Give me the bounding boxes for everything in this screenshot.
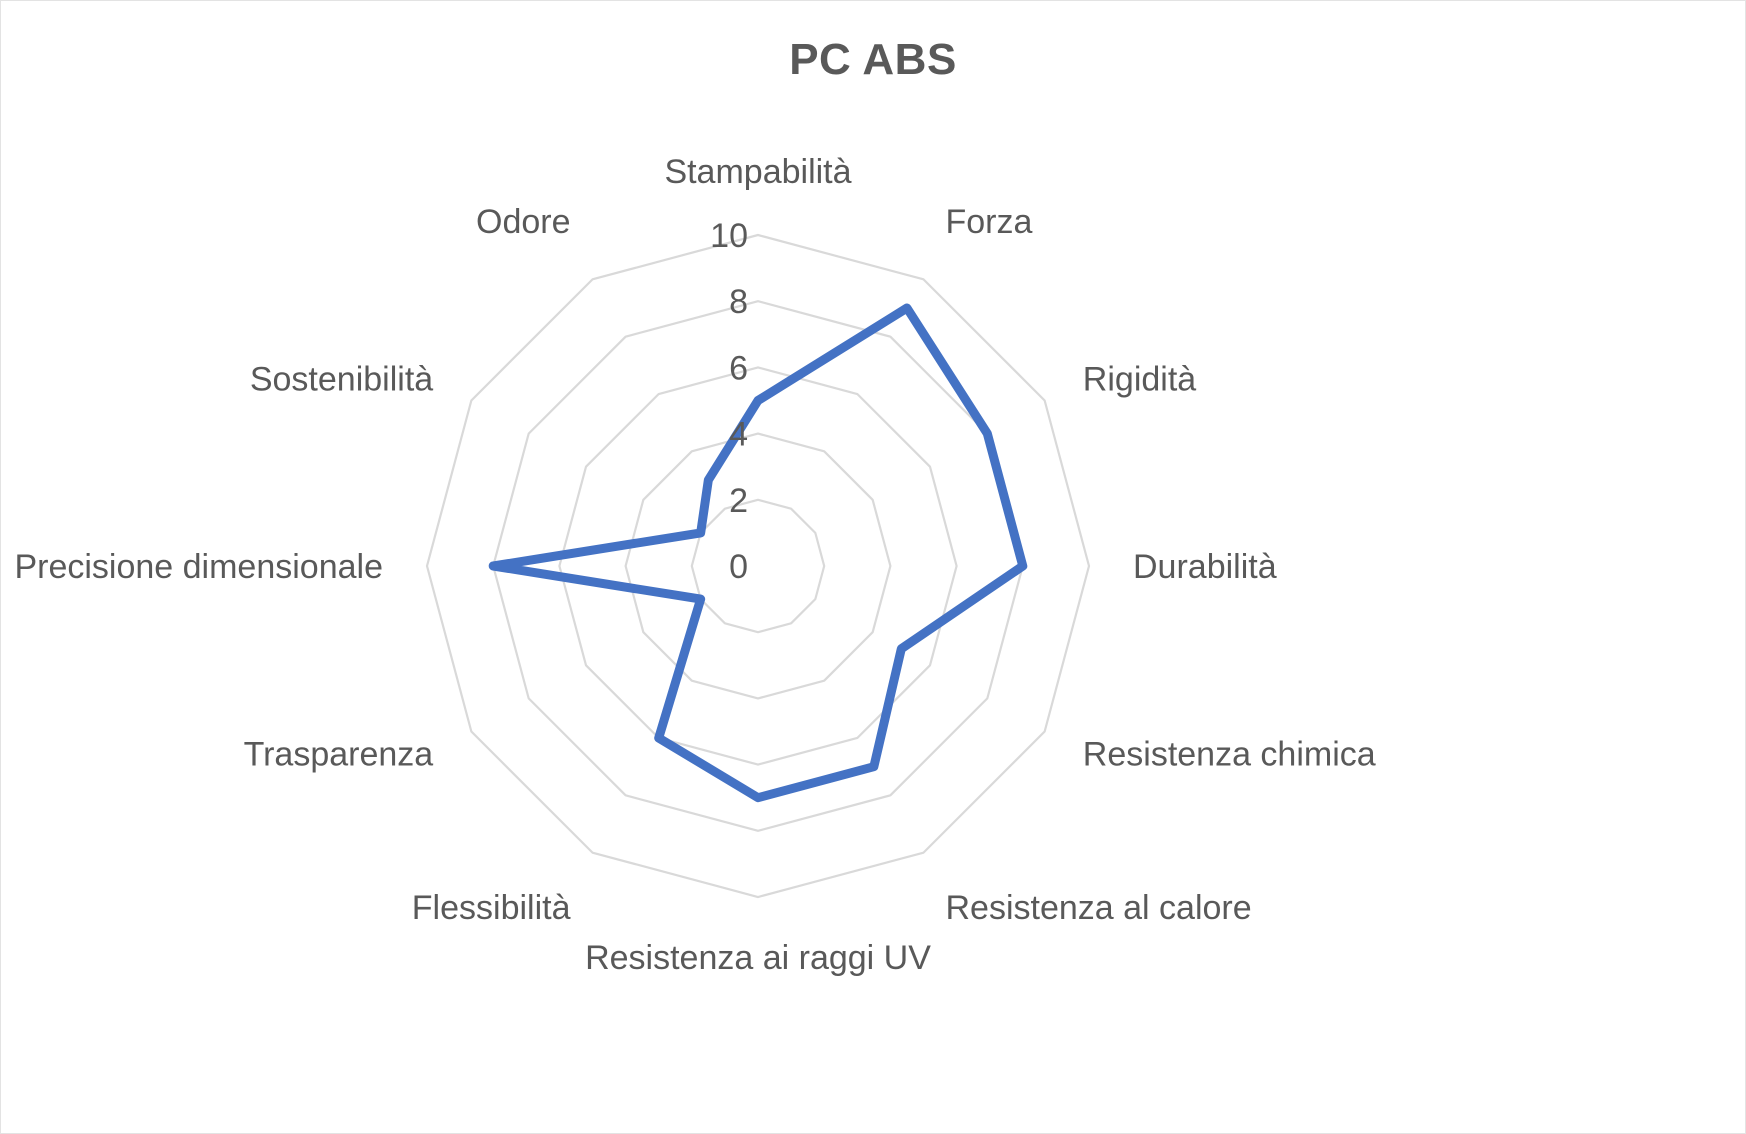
radial-tick-4: 4 [729, 416, 748, 454]
radar-chart: StampabilitàForzaRigiditàDurabilitàResis… [1, 1, 1745, 1133]
axis-label-10: Sostenibilità [250, 361, 433, 399]
axis-label-0: Stampabilità [664, 153, 851, 191]
axis-label-7: Flessibilità [412, 889, 571, 927]
radial-tick-2: 2 [729, 482, 748, 520]
axis-label-11: Odore [476, 203, 571, 241]
radial-tick-6: 6 [729, 349, 748, 387]
radial-tick-10: 10 [710, 217, 748, 255]
chart-canvas: PC ABS StampabilitàForzaRigiditàDurabili… [0, 0, 1746, 1134]
radial-tick-8: 8 [729, 283, 748, 321]
radar-svg: StampabilitàForzaRigiditàDurabilitàResis… [1, 1, 1746, 1134]
axis-label-3: Durabilità [1133, 548, 1277, 586]
axis-label-8: Trasparenza [244, 736, 434, 774]
axis-label-4: Resistenza chimica [1083, 736, 1376, 774]
axis-label-1: Forza [946, 203, 1033, 241]
radar-tick-labels: 0246810 [710, 217, 748, 586]
axis-label-9: Precisione dimensionale [14, 548, 383, 586]
axis-label-5: Resistenza al calore [946, 889, 1252, 927]
radial-tick-0: 0 [729, 548, 748, 586]
axis-label-6: Resistenza ai raggi UV [585, 939, 931, 977]
axis-label-2: Rigidità [1083, 361, 1196, 399]
